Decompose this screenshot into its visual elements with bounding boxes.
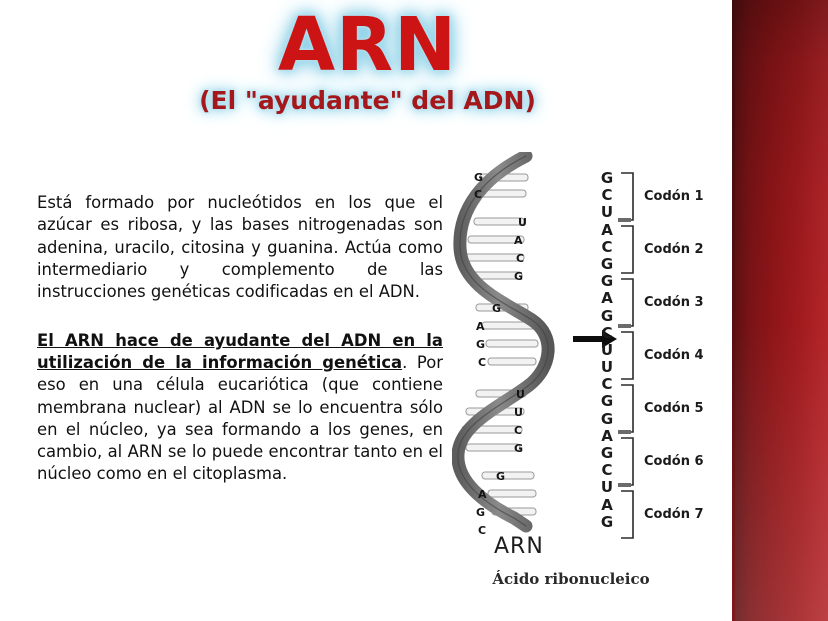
helix-base: C bbox=[474, 188, 482, 201]
sequence-base: G bbox=[595, 514, 619, 531]
sequence-base: C bbox=[595, 376, 619, 393]
codon-label: Codón 1 bbox=[644, 189, 728, 204]
sequence-base: G bbox=[595, 308, 619, 325]
helix-base: G bbox=[514, 270, 523, 283]
sequence-base: A bbox=[595, 497, 619, 514]
codon-label: Codón 7 bbox=[644, 507, 728, 522]
sequence-base: U bbox=[595, 479, 619, 496]
codon-brackets-svg bbox=[618, 170, 640, 542]
rna-diagram: G C U A C G G A G C U U C G G A G C GCUA… bbox=[452, 152, 727, 592]
molecule-label: ARN bbox=[494, 534, 544, 559]
sequence-base: G bbox=[595, 445, 619, 462]
sequence-base: U bbox=[595, 204, 619, 221]
page-title: ARN bbox=[0, 8, 735, 82]
helix-base: A bbox=[476, 320, 485, 333]
helix-base: A bbox=[514, 234, 523, 247]
sequence-base: A bbox=[595, 290, 619, 307]
decorative-red-band bbox=[735, 0, 828, 621]
codon-label: Codón 6 bbox=[644, 454, 728, 469]
helix-base: A bbox=[478, 488, 487, 501]
codon-label: Codón 2 bbox=[644, 242, 728, 257]
helix-base: C bbox=[478, 356, 486, 369]
helix-svg: G C U A C G G A G C U U C G G A G C bbox=[452, 152, 572, 542]
sequence-base: G bbox=[595, 170, 619, 187]
title-block: ARN (El "ayudante" del ADN) bbox=[0, 8, 735, 113]
helix-base: U bbox=[518, 216, 527, 229]
helix-base: G bbox=[492, 302, 501, 315]
sequence-base: G bbox=[595, 393, 619, 410]
helix-base: C bbox=[478, 524, 486, 537]
sequence-base: C bbox=[595, 239, 619, 256]
sequence-base: G bbox=[595, 273, 619, 290]
codon-bracket-column bbox=[618, 170, 640, 542]
helix-base: U bbox=[516, 388, 525, 401]
codon-label-list: Codón 1Codón 2Codón 3Codón 4Codón 5Codón… bbox=[644, 170, 728, 542]
helix-base: G bbox=[476, 338, 485, 351]
body-text-column: Está formado por nucleótidos en los que … bbox=[37, 192, 443, 486]
sequence-base: C bbox=[595, 462, 619, 479]
paragraph-role-rest: . Por eso en una célula eucariótica (que… bbox=[37, 353, 443, 484]
helix-base: C bbox=[514, 424, 522, 437]
sequence-base: C bbox=[595, 325, 619, 342]
codon-label: Codón 3 bbox=[644, 295, 728, 310]
sequence-base: U bbox=[595, 359, 619, 376]
helix-base: G bbox=[514, 442, 523, 455]
helix-base: U bbox=[514, 406, 523, 419]
paragraph-role: El ARN hace de ayudante del ADN en la ut… bbox=[37, 330, 443, 486]
helix-base: G bbox=[496, 470, 505, 483]
sequence-base: A bbox=[595, 222, 619, 239]
sequence-base: G bbox=[595, 411, 619, 428]
page-subtitle: (El "ayudante" del ADN) bbox=[0, 88, 735, 113]
figure-caption: Ácido ribonucleico bbox=[446, 570, 696, 588]
rna-sequence-column: GCUACGGAGCUUCGGAGCUAG bbox=[595, 170, 619, 531]
codon-label: Codón 5 bbox=[644, 401, 728, 416]
helix-base: G bbox=[474, 171, 483, 184]
sequence-base: A bbox=[595, 428, 619, 445]
sequence-base: G bbox=[595, 256, 619, 273]
rna-helix-illustration: G C U A C G G A G C U U C G G A G C bbox=[452, 152, 572, 542]
helix-base: G bbox=[476, 506, 485, 519]
codon-label: Codón 4 bbox=[644, 348, 728, 363]
sequence-base: C bbox=[595, 187, 619, 204]
emphasized-sentence: El ARN hace de ayudante del ADN en la ut… bbox=[37, 331, 443, 372]
sequence-base: U bbox=[595, 342, 619, 359]
helix-base: C bbox=[516, 252, 524, 265]
paragraph-intro: Está formado por nucleótidos en los que … bbox=[37, 192, 443, 304]
